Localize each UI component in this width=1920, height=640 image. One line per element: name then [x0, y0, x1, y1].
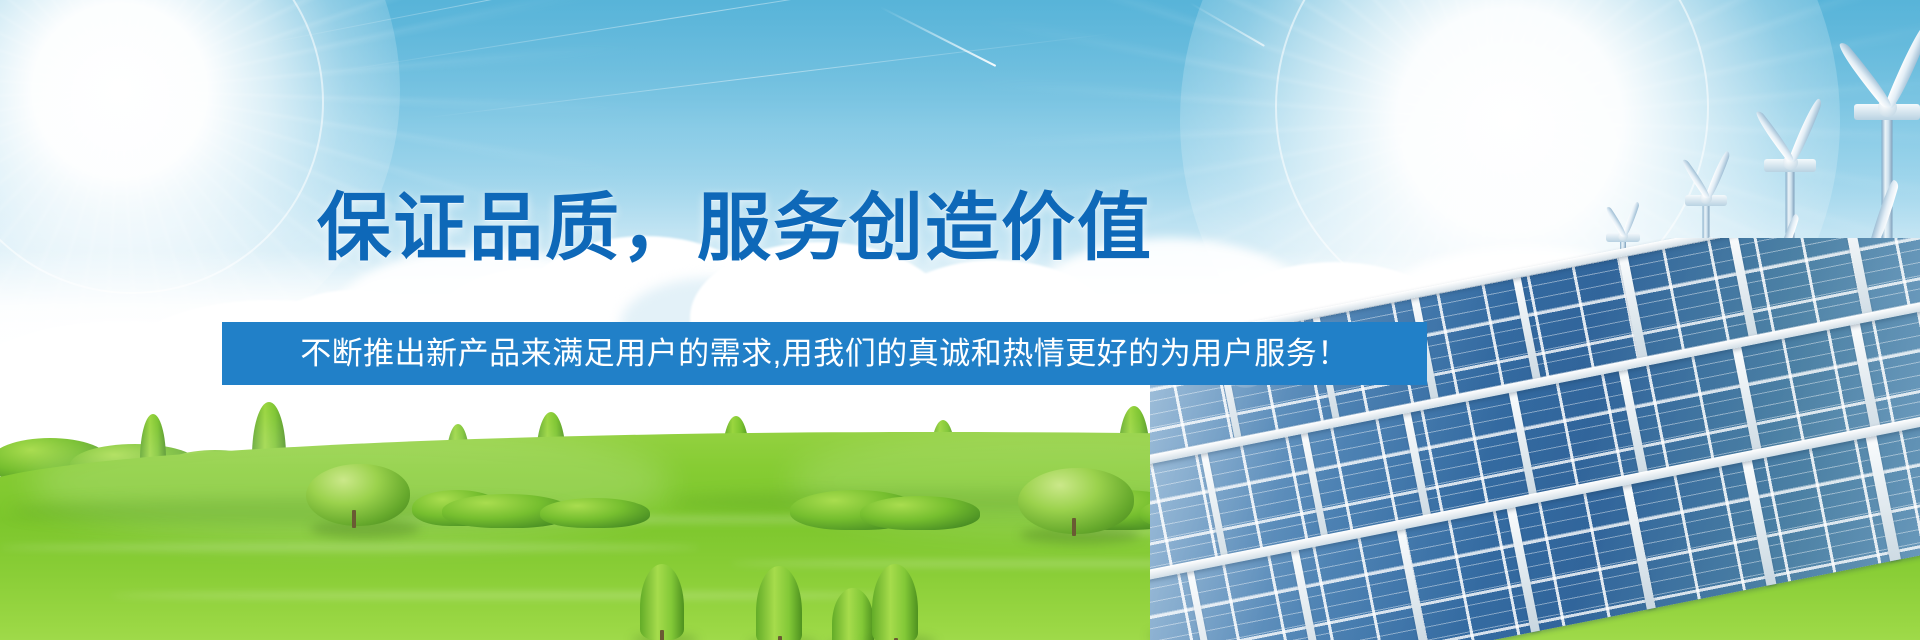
- hero-banner: 保证品质，服务创造价值 不断推出新产品来满足用户的需求,用我们的真诚和热情更好的…: [0, 0, 1920, 640]
- meadow-highlight: [0, 544, 700, 551]
- mid-tree: [1018, 468, 1134, 534]
- mid-shrub: [540, 498, 650, 528]
- subtitle-bar: 不断推出新产品来满足用户的需求,用我们的真诚和热情更好的为用户服务！: [222, 322, 1427, 385]
- sapling-trunk: [778, 636, 782, 640]
- mid-tree: [306, 464, 410, 526]
- tree-trunk: [1072, 518, 1076, 536]
- sapling-trunk: [660, 630, 664, 640]
- tree-trunk: [352, 510, 356, 528]
- solar-panel-array: [1150, 238, 1920, 640]
- lens-flare-dot-left: [562, 300, 583, 321]
- page-title: 保证品质，服务创造价值: [0, 186, 1470, 270]
- subtitle-text: 不断推出新产品来满足用户的需求,用我们的真诚和热情更好的为用户服务！: [300, 337, 1349, 371]
- mid-shrub: [860, 496, 980, 530]
